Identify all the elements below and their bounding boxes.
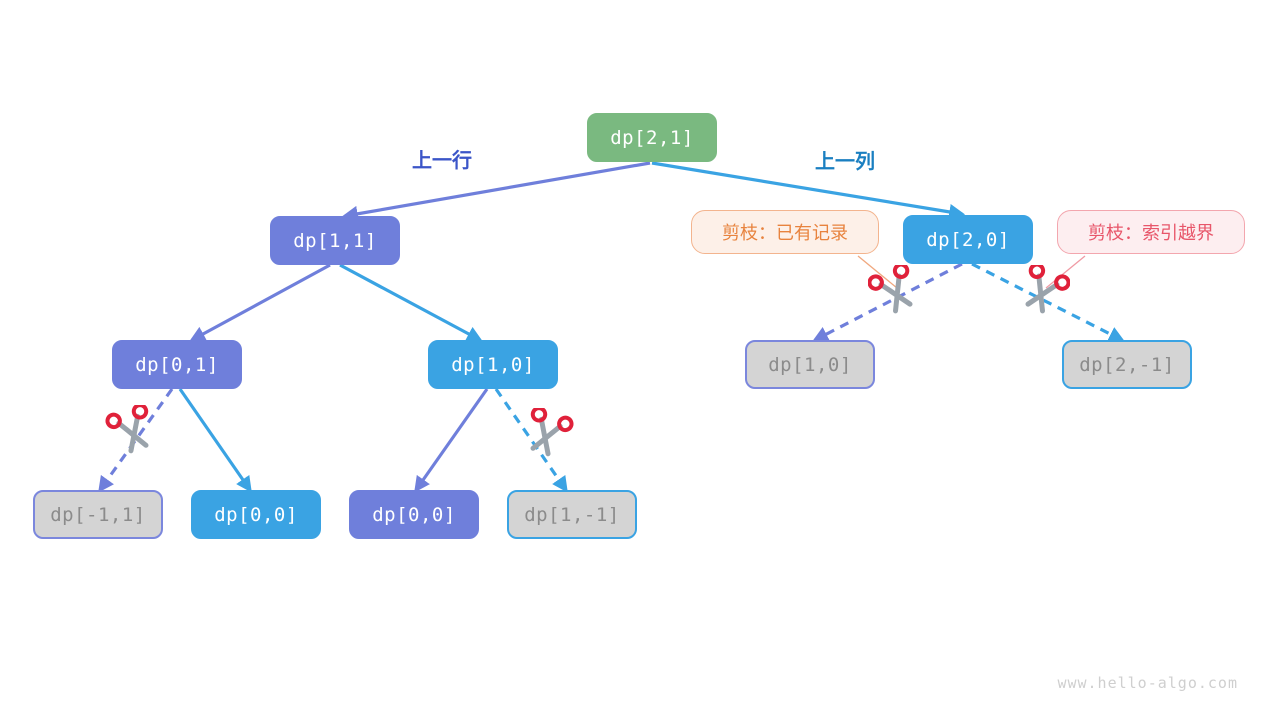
node-dp-2-0[interactable]: dp[2,0]	[903, 215, 1033, 264]
node-label: dp[1,0]	[451, 354, 535, 376]
node-label: dp[0,1]	[135, 354, 219, 376]
node-dp-2-minus1[interactable]: dp[2,-1]	[1062, 340, 1192, 389]
node-label: dp[0,0]	[214, 504, 298, 526]
node-label: dp[2,0]	[926, 229, 1010, 251]
node-dp-1-0-left[interactable]: dp[1,0]	[428, 340, 558, 389]
branch-label-previous-column: 上一列	[815, 145, 875, 174]
scissors-icon	[518, 408, 574, 464]
node-dp-0-0-b[interactable]: dp[0,0]	[349, 490, 479, 539]
callout-memo-pruning: 剪枝：已有记录	[691, 210, 879, 254]
node-label: dp[0,0]	[372, 504, 456, 526]
node-dp-1-minus1[interactable]: dp[1,-1]	[507, 490, 637, 539]
node-dp-minus1-1[interactable]: dp[-1,1]	[33, 490, 163, 539]
callout-text: 剪枝：索引越界	[1088, 219, 1214, 245]
node-label: dp[2,-1]	[1079, 354, 1175, 376]
diagram-canvas: dp[2,1] dp[1,1] dp[2,0] dp[0,1] dp[1,0] …	[0, 0, 1280, 720]
scissors-icon	[1014, 265, 1070, 321]
node-dp-1-1[interactable]: dp[1,1]	[270, 216, 400, 265]
node-label: dp[1,0]	[768, 354, 852, 376]
callout-text: 剪枝：已有记录	[722, 219, 848, 245]
node-dp-0-1[interactable]: dp[0,1]	[112, 340, 242, 389]
watermark: www.hello-algo.com	[1057, 674, 1238, 692]
node-label: dp[-1,1]	[50, 504, 146, 526]
node-dp-2-1[interactable]: dp[2,1]	[587, 113, 717, 162]
node-dp-0-0-a[interactable]: dp[0,0]	[191, 490, 321, 539]
node-label: dp[1,1]	[293, 230, 377, 252]
node-dp-1-0-pruned[interactable]: dp[1,0]	[745, 340, 875, 389]
branch-label-previous-row: 上一行	[412, 144, 472, 173]
scissors-icon	[105, 405, 161, 461]
node-label: dp[1,-1]	[524, 504, 620, 526]
scissors-icon	[868, 265, 924, 321]
node-label: dp[2,1]	[610, 127, 694, 149]
callout-bounds-pruning: 剪枝：索引越界	[1057, 210, 1245, 254]
